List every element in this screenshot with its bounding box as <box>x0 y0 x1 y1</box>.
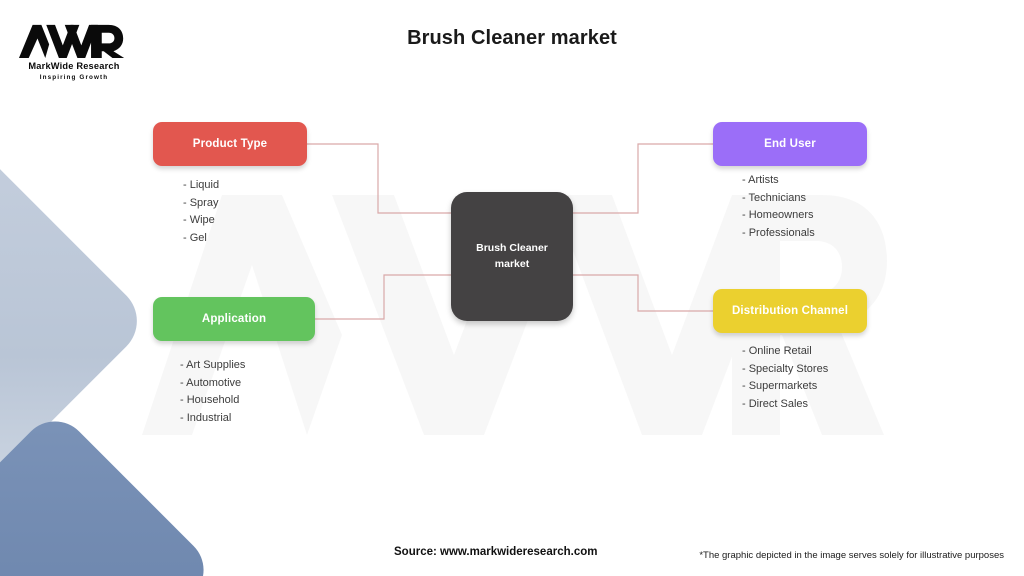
center-node-line-2: market <box>495 258 529 270</box>
connector-end-user <box>573 144 713 213</box>
node-end-user-label: End User <box>764 138 816 150</box>
infographic-canvas: MarkWide Research Inspiring Growth Brush… <box>0 0 1024 576</box>
node-product-type[interactable]: Product Type <box>153 122 307 166</box>
center-node-line-1: Brush Cleaner <box>476 242 548 254</box>
list-item: - Supermarkets <box>742 378 828 396</box>
list-item: - Household <box>180 392 245 410</box>
list-item: - Artists <box>742 172 815 190</box>
list-item: - Industrial <box>180 410 245 428</box>
node-application[interactable]: Application <box>153 297 315 341</box>
list-item: - Automotive <box>180 375 245 393</box>
svg-text:Inspiring Growth: Inspiring Growth <box>40 74 109 81</box>
list-end-user: - Artists - Technicians - Homeowners - P… <box>742 172 815 242</box>
source-label: Source: www.markwideresearch.com <box>394 546 597 558</box>
page-title: Brush Cleaner market <box>0 27 1024 50</box>
list-item: - Online Retail <box>742 343 828 361</box>
list-item: - Spray <box>183 195 219 213</box>
svg-text:MarkWide Research: MarkWide Research <box>28 61 119 71</box>
decorative-square-light <box>0 144 152 498</box>
disclaimer-label: *The graphic depicted in the image serve… <box>699 550 1004 561</box>
connector-distribution-channel <box>573 275 713 311</box>
list-item: - Liquid <box>183 177 219 195</box>
list-product-type: - Liquid - Spray - Wipe - Gel <box>183 177 219 247</box>
list-item: - Technicians <box>742 190 815 208</box>
list-distribution-channel: - Online Retail - Specialty Stores - Sup… <box>742 343 828 413</box>
list-item: - Direct Sales <box>742 396 828 414</box>
node-product-type-label: Product Type <box>193 138 267 150</box>
list-item: - Professionals <box>742 225 815 243</box>
connector-product-type <box>307 144 451 213</box>
node-end-user[interactable]: End User <box>713 122 867 166</box>
list-item: - Specialty Stores <box>742 361 828 379</box>
list-application: - Art Supplies - Automotive - Household … <box>180 357 245 427</box>
connector-application <box>315 275 451 319</box>
list-item: - Homeowners <box>742 207 815 225</box>
center-node-label: Brush Cleaner market <box>476 241 548 271</box>
node-application-label: Application <box>202 313 266 325</box>
list-item: - Wipe <box>183 212 219 230</box>
node-distribution-channel-label: Distribution Channel <box>732 305 848 317</box>
center-node-brush-cleaner-market[interactable]: Brush Cleaner market <box>451 192 573 321</box>
list-item: - Gel <box>183 230 219 248</box>
list-item: - Art Supplies <box>180 357 245 375</box>
decorative-square-dark <box>0 407 218 576</box>
node-distribution-channel[interactable]: Distribution Channel <box>713 289 867 333</box>
